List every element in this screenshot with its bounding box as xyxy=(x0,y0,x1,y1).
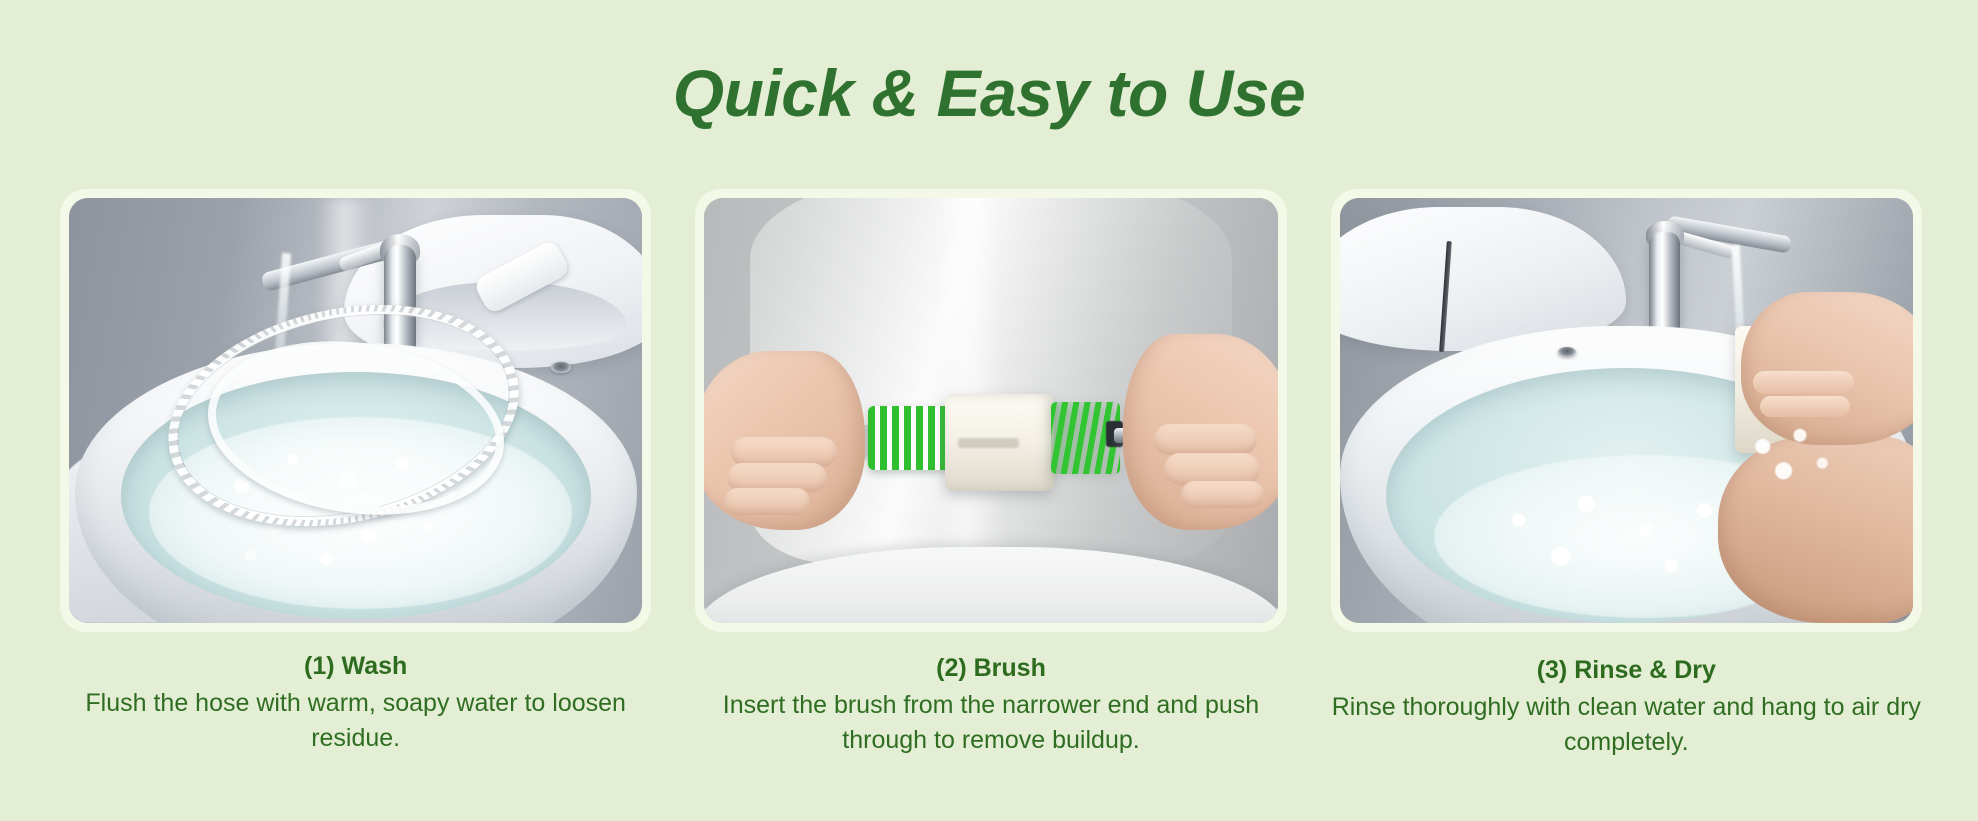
foam-on-hands xyxy=(1718,402,1867,513)
step-2-body: Insert the brush from the narrower end a… xyxy=(695,688,1286,759)
quick-and-easy-section: Quick & Easy to Use xyxy=(0,0,1978,821)
finger xyxy=(1753,371,1854,394)
step-card-3 xyxy=(1331,189,1922,632)
finger xyxy=(1181,481,1264,508)
step-caption-2: (2) Brush Insert the brush from the narr… xyxy=(695,650,1286,761)
finger xyxy=(731,437,838,467)
green-brush-bristles-left xyxy=(868,406,954,470)
step-caption-3: (3) Rinse & Dry Rinse thoroughly with cl… xyxy=(1331,650,1922,761)
step-1-body: Flush the hose with warm, soapy water to… xyxy=(60,686,651,757)
step-1-image xyxy=(69,198,642,623)
steps-card-row xyxy=(60,189,1922,632)
hose-cuff xyxy=(945,394,1054,492)
step-3-title: (3) Rinse & Dry xyxy=(1331,654,1922,688)
steps-caption-row: (1) Wash Flush the hose with warm, soapy… xyxy=(60,650,1922,761)
right-hand xyxy=(1123,334,1278,530)
step-card-1 xyxy=(60,189,651,632)
step-caption-1: (1) Wash Flush the hose with warm, soapy… xyxy=(60,650,651,761)
finger xyxy=(1164,453,1260,484)
step-2-image xyxy=(704,198,1277,623)
finger xyxy=(724,488,810,515)
overflow-drain-hole xyxy=(1558,347,1576,357)
step-3-body: Rinse thoroughly with clean water and ha… xyxy=(1331,690,1922,761)
page-title: Quick & Easy to Use xyxy=(0,57,1978,130)
step-card-2 xyxy=(695,189,1286,632)
step-3-image xyxy=(1340,198,1913,623)
finger xyxy=(1154,424,1257,455)
step-2-title: (2) Brush xyxy=(695,652,1286,686)
left-hand xyxy=(704,351,865,530)
step-1-title: (1) Wash xyxy=(60,650,651,684)
overflow-drain-hole xyxy=(551,362,570,373)
